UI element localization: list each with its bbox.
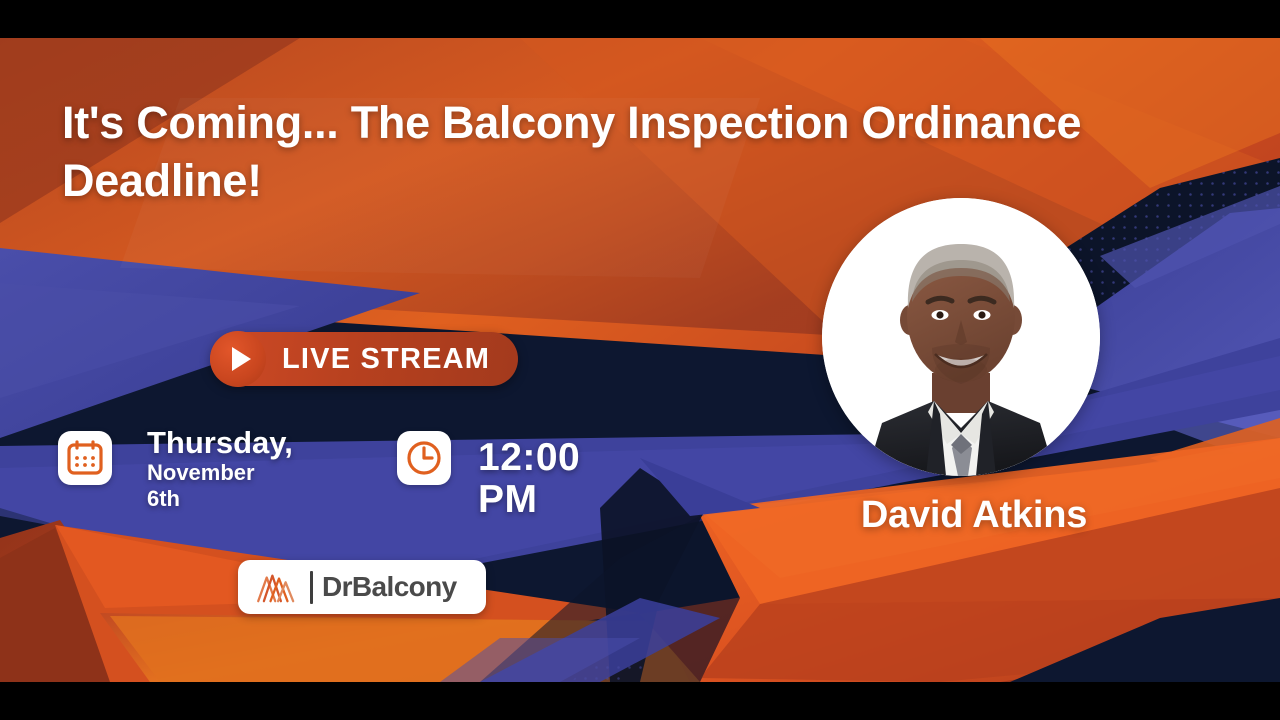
avatar <box>822 198 1100 476</box>
brand-logo[interactable]: DrBalcony <box>238 560 486 614</box>
event-date-label: November 6th <box>147 460 293 512</box>
calendar-icon <box>58 431 112 485</box>
slide-content: It's Coming... The Balcony Inspection Or… <box>0 38 1280 682</box>
event-time-label: 12:00 PM <box>478 437 580 521</box>
letterbox-bottom <box>0 682 1280 720</box>
speaker-name: David Atkins <box>824 494 1124 537</box>
brand-name: DrBalcony <box>322 571 457 603</box>
slide-canvas: It's Coming... The Balcony Inspection Or… <box>0 0 1280 720</box>
clock-icon <box>397 431 451 485</box>
letterbox-top <box>0 0 1280 38</box>
event-day-label: Thursday, <box>147 425 293 460</box>
drbalcony-mountain-icon <box>254 570 304 604</box>
play-triangle-icon <box>210 331 266 387</box>
event-date: Thursday, November 6th <box>147 425 293 512</box>
speaker-headshot <box>822 198 1100 476</box>
live-stream-badge[interactable]: LIVE STREAM <box>210 332 518 386</box>
page-title: It's Coming... The Balcony Inspection Or… <box>62 94 1232 209</box>
live-stream-label: LIVE STREAM <box>282 332 490 386</box>
logo-divider <box>310 571 313 604</box>
